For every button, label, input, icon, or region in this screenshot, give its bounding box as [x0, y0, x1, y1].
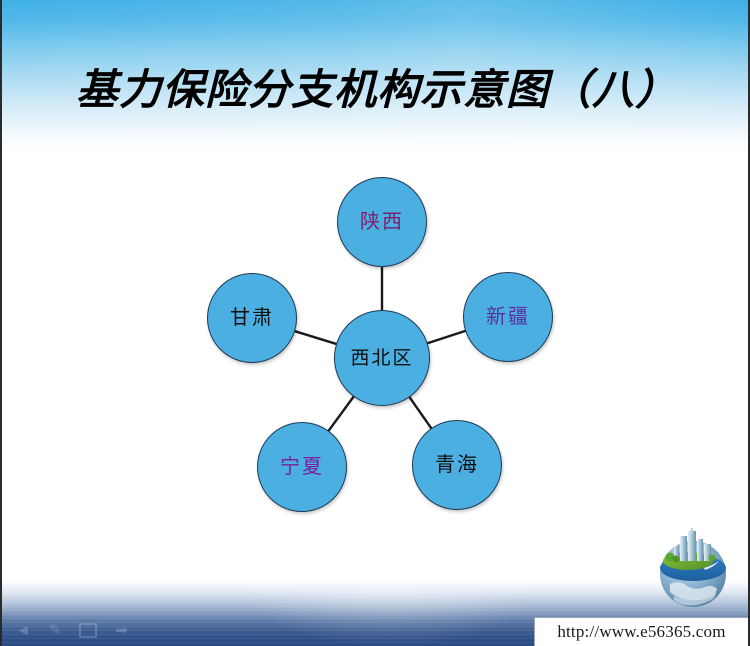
org-structure-diagram: 陕西新疆青海宁夏甘肃西北区: [2, 150, 750, 550]
node-gansu[interactable]: 甘肃: [207, 273, 297, 363]
page-title: 基力保险分支机构示意图（八）: [2, 56, 750, 117]
node-shaanxi[interactable]: 陕西: [337, 177, 427, 267]
forward-arrow-icon: ➡: [115, 623, 128, 638]
node-xinjiang[interactable]: 新疆: [463, 272, 553, 362]
footer-url-box[interactable]: http://www.e56365.com: [534, 617, 748, 646]
pen-icon: ✎: [49, 623, 62, 638]
watermark-glyph-row: ◄ ✎ ➡: [16, 623, 128, 638]
globe-city-logo: [644, 528, 742, 610]
node-xinjiang-label: 新疆: [486, 307, 530, 327]
node-gansu-label: 甘肃: [230, 308, 274, 328]
node-shaanxi-label: 陕西: [360, 212, 404, 232]
edge-center-to-新疆: [427, 331, 466, 344]
edge-center-to-青海: [409, 396, 432, 428]
node-center-northwest-region[interactable]: 西北区: [334, 310, 430, 406]
sea-light-reflection: [240, 588, 540, 646]
back-arrow-icon: ◄: [16, 623, 31, 638]
edge-center-to-甘肃: [294, 331, 337, 344]
node-qinghai[interactable]: 青海: [412, 420, 502, 510]
edge-center-to-宁夏: [328, 396, 354, 432]
node-qinghai-label: 青海: [435, 455, 479, 475]
node-ningxia-label: 宁夏: [280, 457, 324, 477]
node-center-northwest-region-label: 西北区: [350, 349, 413, 368]
presentation-slide: 基力保险分支机构示意图（八） 陕西新疆青海宁夏甘肃西北区 ◄ ✎ ➡: [0, 0, 750, 646]
node-ningxia[interactable]: 宁夏: [257, 422, 347, 512]
footer-url-text: http://www.e56365.com: [557, 622, 725, 642]
square-icon: [79, 623, 97, 638]
